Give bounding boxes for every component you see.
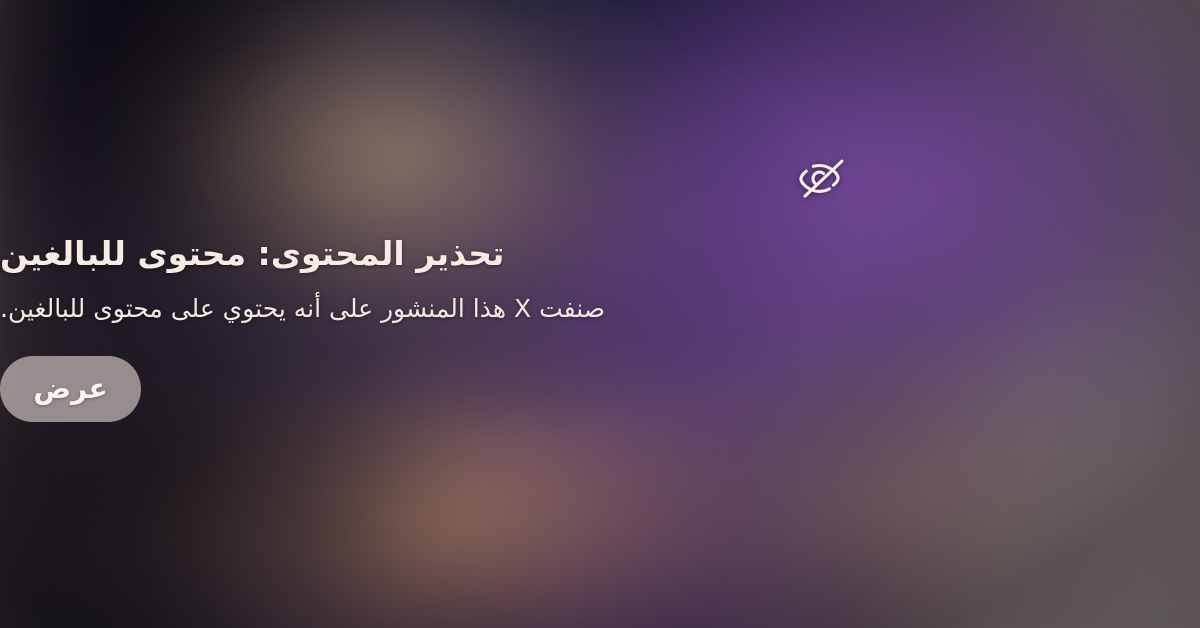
content-warning-title: تحذير المحتوى: محتوى للبالغين — [0, 234, 504, 274]
eye-off-icon — [799, 158, 845, 200]
content-warning-subtitle: صنفت X هذا المنشور على أنه يحتوي على محت… — [0, 292, 605, 327]
view-content-button[interactable]: عرض — [0, 356, 141, 422]
content-warning-panel: تحذير المحتوى: محتوى للبالغين صنفت X هذا… — [0, 0, 1200, 628]
content-warning-screen: تحذير المحتوى: محتوى للبالغين صنفت X هذا… — [0, 0, 1200, 628]
